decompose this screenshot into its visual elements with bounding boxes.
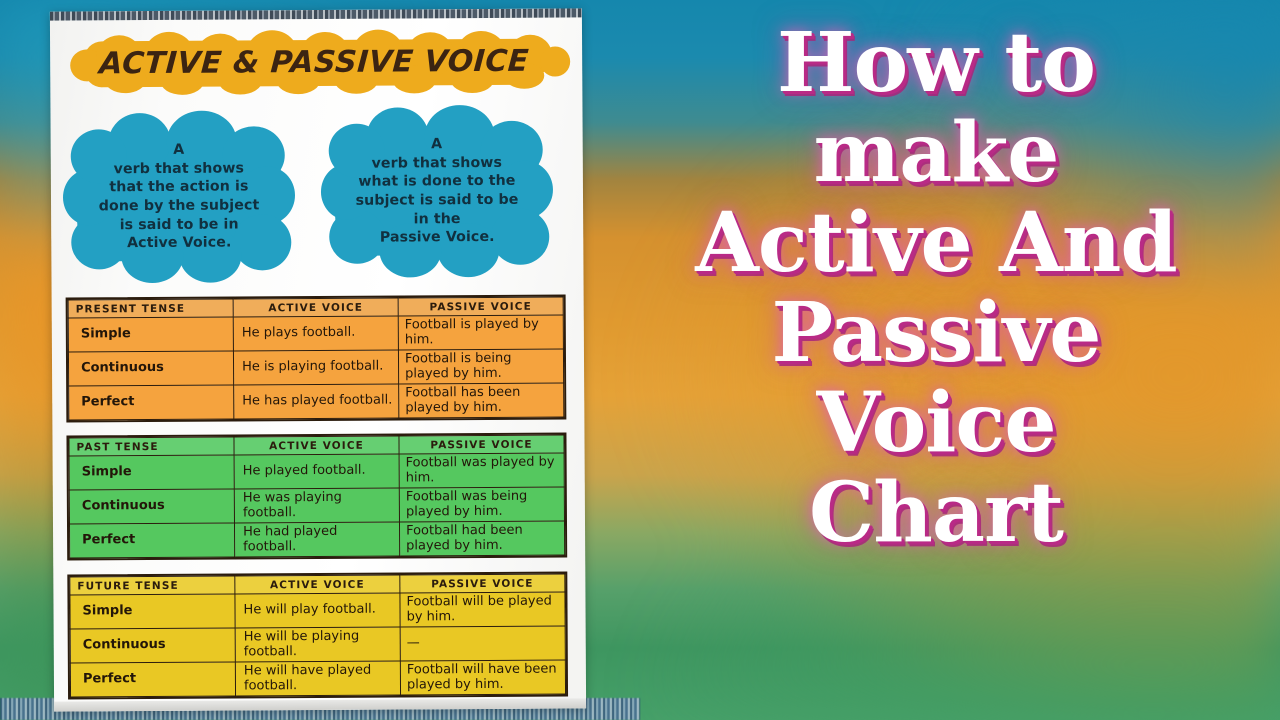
past-row-2-label: Perfect: [69, 523, 234, 558]
table-row: Simple He will play football. Football w…: [70, 592, 565, 629]
past-row-2-passive: Football had been played by him.: [399, 521, 564, 556]
passive-def-line-4: subject is said to be: [356, 191, 519, 211]
past-tense-table: Past Tense Active Voice Passive Voice Si…: [66, 432, 567, 560]
future-row-1-label: Continuous: [70, 628, 235, 663]
future-row-1-passive: —: [400, 626, 565, 661]
headline-line-1: How to: [777, 22, 1095, 104]
future-header-active: Active Voice: [235, 575, 400, 594]
future-tense-table: Future Tense Active Voice Passive Voice …: [67, 571, 568, 699]
future-row-0-label: Simple: [70, 594, 235, 629]
table-row: Perfect He will have played football. Fo…: [70, 660, 565, 697]
passive-def-line-6: Passive Voice.: [380, 228, 495, 247]
future-header-passive: Passive Voice: [400, 574, 565, 593]
present-header-tense: Present Tense: [68, 299, 233, 318]
poster-top-edge: [50, 8, 582, 20]
present-row-0-label: Simple: [68, 317, 233, 352]
past-header-tense: Past Tense: [69, 437, 234, 456]
passive-def-line-3: what is done to the: [358, 172, 515, 192]
present-header-passive: Passive Voice: [398, 297, 563, 316]
table-row: Perfect He has played football. Football…: [69, 383, 564, 420]
active-definition-text: A verb that shows that the action is don…: [62, 110, 295, 283]
present-tense-table: Present Tense Active Voice Passive Voice…: [66, 294, 567, 422]
active-def-line-5: is said to be in: [120, 215, 239, 234]
past-row-1-label: Continuous: [69, 489, 234, 524]
past-row-0-label: Simple: [69, 455, 234, 490]
table-row: Perfect He had played football. Football…: [69, 521, 564, 558]
present-row-1-label: Continuous: [68, 351, 233, 386]
past-header-active: Active Voice: [234, 436, 399, 455]
future-row-2-active: He will have played football.: [235, 661, 400, 696]
future-header-tense: Future Tense: [70, 576, 235, 595]
past-header-passive: Passive Voice: [399, 435, 564, 454]
present-row-2-passive: Football has been played by him.: [399, 383, 564, 418]
past-row-0-passive: Football was played by him.: [399, 453, 564, 488]
future-row-2-passive: Football will have been played by him.: [400, 660, 565, 695]
past-row-1-passive: Football was being played by him.: [399, 487, 564, 522]
present-tense-grid: Present Tense Active Voice Passive Voice…: [68, 296, 565, 420]
present-row-1-active: He is playing football.: [233, 350, 398, 385]
active-def-line-6: Active Voice.: [127, 234, 232, 253]
present-row-0-passive: Football is played by him.: [398, 315, 563, 350]
passive-voice-definition-cloud: A verb that shows what is done to the su…: [320, 105, 553, 278]
passive-definition-text: A verb that shows what is done to the su…: [320, 105, 553, 278]
active-voice-definition-cloud: A verb that shows that the action is don…: [62, 110, 295, 283]
past-tense-grid: Past Tense Active Voice Passive Voice Si…: [68, 434, 565, 558]
active-def-line-1: A: [173, 141, 184, 160]
table-row: Simple He played football. Football was …: [69, 453, 564, 490]
present-header-active: Active Voice: [233, 298, 398, 317]
screenshot-root: Active & Passive Voice A verb that shows…: [0, 0, 1280, 720]
passive-def-line-2: verb that shows: [371, 153, 502, 173]
future-row-0-active: He will play football.: [235, 593, 400, 628]
present-row-0-active: He plays football.: [233, 316, 398, 351]
poster-title-text: Active & Passive Voice: [66, 29, 562, 96]
passive-def-line-5: in the: [414, 210, 461, 229]
active-def-line-4: done by the subject: [99, 196, 260, 216]
headline-line-3: Active And: [695, 202, 1177, 284]
passive-def-line-1: A: [431, 135, 442, 154]
poster-sheet: Active & Passive Voice A verb that shows…: [50, 8, 586, 711]
active-def-line-2: verb that shows: [114, 159, 245, 179]
future-tense-grid: Future Tense Active Voice Passive Voice …: [69, 573, 566, 697]
table-row: Continuous He is playing football. Footb…: [68, 349, 563, 386]
present-row-2-label: Perfect: [69, 385, 234, 420]
present-row-1-passive: Football is being played by him.: [398, 349, 563, 384]
headline-line-6: Chart: [809, 472, 1063, 554]
future-row-2-label: Perfect: [70, 662, 235, 697]
future-row-0-passive: Football will be played by him.: [400, 592, 565, 627]
poster-title-banner: Active & Passive Voice: [68, 29, 560, 96]
headline-line-4: Passive: [772, 292, 1101, 374]
video-title-overlay: How to make Active And Passive Voice Cha…: [600, 14, 1272, 708]
past-row-1-active: He was playing football.: [234, 488, 399, 523]
table-row: Continuous He will be playing football. …: [70, 626, 565, 663]
table-row: Continuous He was playing football. Foot…: [69, 487, 564, 524]
past-row-2-active: He had played football.: [234, 522, 399, 557]
headline-line-2: make: [814, 112, 1059, 194]
past-row-0-active: He played football.: [234, 454, 399, 489]
headline-line-5: Voice: [816, 382, 1055, 464]
future-row-1-active: He will be playing football.: [235, 627, 400, 662]
present-row-2-active: He has played football.: [234, 384, 399, 419]
active-def-line-3: that the action is: [109, 178, 248, 198]
table-row: Simple He plays football. Football is pl…: [68, 315, 563, 352]
